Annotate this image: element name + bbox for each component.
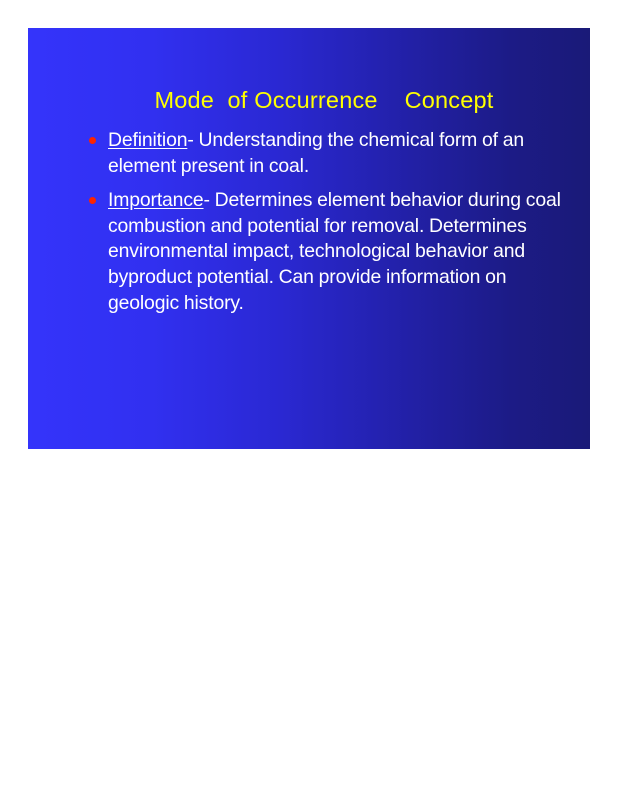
list-item: Importance- Determines element behavior … <box>64 188 576 316</box>
bullet-dot-icon <box>89 137 96 144</box>
slide-canvas: Mode of Occurrence Concept Definition- U… <box>0 0 618 800</box>
bullet-dot-icon <box>89 197 96 204</box>
slide-body: Definition- Understanding the chemical f… <box>64 128 576 325</box>
presentation-slide: Mode of Occurrence Concept Definition- U… <box>28 28 590 449</box>
bullet-term-definition: Definition <box>108 129 187 151</box>
bullet-text: Definition- Understanding the chemical f… <box>108 128 576 179</box>
slide-title: Mode of Occurrence Concept <box>104 86 544 114</box>
bullet-text: Importance- Determines element behavior … <box>108 188 576 316</box>
bullet-term-importance: Importance <box>108 189 204 211</box>
list-item: Definition- Understanding the chemical f… <box>64 128 576 179</box>
